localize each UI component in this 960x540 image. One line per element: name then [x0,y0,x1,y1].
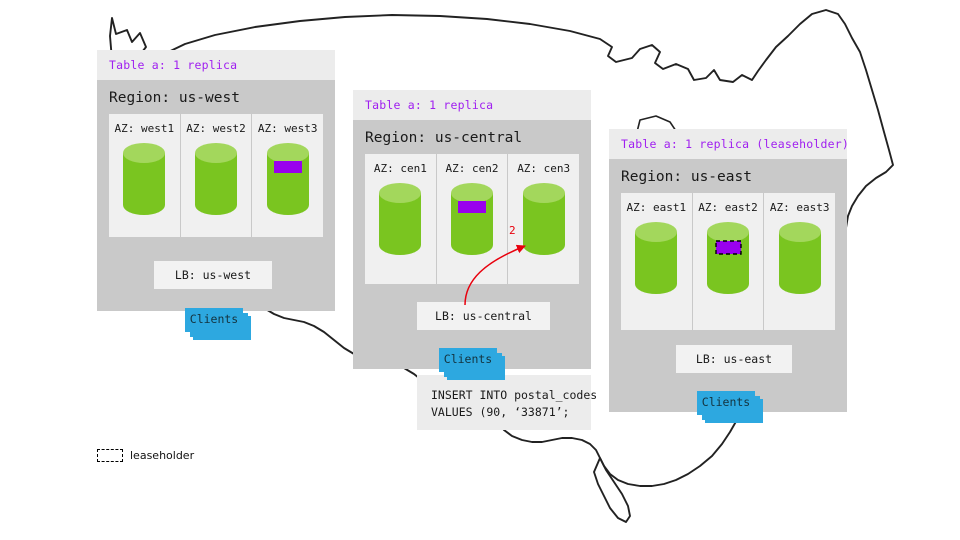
sql-statement-box: INSERT INTO postal_codes VALUES (90, ‘33… [417,375,591,430]
load-balancer-us-west[interactable]: LB: us-west [154,261,272,289]
database-cylinder-icon [121,141,167,217]
node-cylinder-cen1[interactable] [377,181,423,261]
az-cell-cen2[interactable]: AZ: cen2 [436,154,508,284]
region-title-us-central: Region: us-central [353,120,591,154]
panel-body-us-east: Region: us-east AZ: east1 AZ: east2 [609,159,847,412]
leaseholder-replica-marker-icon [716,241,741,254]
az-cell-east2[interactable]: AZ: east2 [692,193,764,330]
panel-header-us-east: Table a: 1 replica (leaseholder) [609,129,847,159]
az-label-east2: AZ: east2 [698,193,758,220]
region-title-us-west: Region: us-west [97,80,335,114]
diagram-canvas: Table a: 1 replica Region: us-west AZ: w… [0,0,960,540]
az-label-west1: AZ: west1 [115,114,175,141]
az-cell-cen3[interactable]: AZ: cen3 [507,154,579,284]
az-row-us-central: AZ: cen1 AZ: cen2 [365,154,579,284]
region-panel-us-west: Table a: 1 replica Region: us-west AZ: w… [97,50,335,311]
panel-body-us-central: Region: us-central AZ: cen1 AZ: cen2 [353,120,591,369]
az-label-cen3: AZ: cen3 [517,154,570,181]
database-cylinder-icon [449,181,495,257]
replica-marker-icon [274,161,302,173]
database-cylinder-icon [777,220,823,296]
az-cell-west2[interactable]: AZ: west2 [180,114,252,237]
node-cylinder-east1[interactable] [633,220,679,300]
az-cell-east3[interactable]: AZ: east3 [763,193,835,330]
az-label-west3: AZ: west3 [258,114,318,141]
panel-header-us-central: Table a: 1 replica [353,90,591,120]
clients-button-us-east[interactable]: Clients [697,391,763,423]
az-row-us-west: AZ: west1 AZ: west2 [109,114,323,237]
az-label-cen2: AZ: cen2 [446,154,499,181]
replica-marker-icon [458,201,486,213]
az-cell-cen1[interactable]: AZ: cen1 [365,154,436,284]
node-cylinder-cen2[interactable] [449,181,495,261]
load-balancer-us-east[interactable]: LB: us-east [676,345,792,373]
az-cell-west3[interactable]: AZ: west3 [251,114,323,237]
legend: leaseholder [97,449,194,462]
node-cylinder-west2[interactable] [193,141,239,221]
database-cylinder-icon [521,181,567,257]
region-panel-us-central: Table a: 1 replica Region: us-central AZ… [353,90,591,369]
az-label-east3: AZ: east3 [770,193,830,220]
region-panel-us-east: Table a: 1 replica (leaseholder) Region:… [609,129,847,412]
database-cylinder-icon [705,220,751,296]
clients-label-us-central: Clients [439,348,497,372]
clients-label-us-east: Clients [697,391,755,415]
node-cylinder-east2[interactable] [705,220,751,300]
database-cylinder-icon [265,141,311,217]
database-cylinder-icon [193,141,239,217]
panel-header-us-west: Table a: 1 replica [97,50,335,80]
node-cylinder-cen3[interactable] [521,181,567,261]
arrow-label-2: 2 [509,224,516,237]
az-label-east1: AZ: east1 [627,193,687,220]
node-cylinder-east3[interactable] [777,220,823,300]
region-title-us-east: Region: us-east [609,159,847,193]
az-row-us-east: AZ: east1 AZ: east2 [621,193,835,330]
node-cylinder-west1[interactable] [121,141,167,221]
leaseholder-swatch-icon [97,449,123,462]
node-cylinder-west3[interactable] [265,141,311,221]
database-cylinder-icon [377,181,423,257]
clients-button-us-west[interactable]: Clients [185,308,251,340]
az-label-west2: AZ: west2 [186,114,246,141]
database-cylinder-icon [633,220,679,296]
panel-body-us-west: Region: us-west AZ: west1 AZ: west2 [97,80,335,311]
az-cell-west1[interactable]: AZ: west1 [109,114,180,237]
clients-button-us-central[interactable]: Clients [439,348,505,380]
load-balancer-us-central[interactable]: LB: us-central [417,302,550,330]
az-label-cen1: AZ: cen1 [374,154,427,181]
clients-label-us-west: Clients [185,308,243,332]
legend-label: leaseholder [130,449,194,462]
az-cell-east1[interactable]: AZ: east1 [621,193,692,330]
